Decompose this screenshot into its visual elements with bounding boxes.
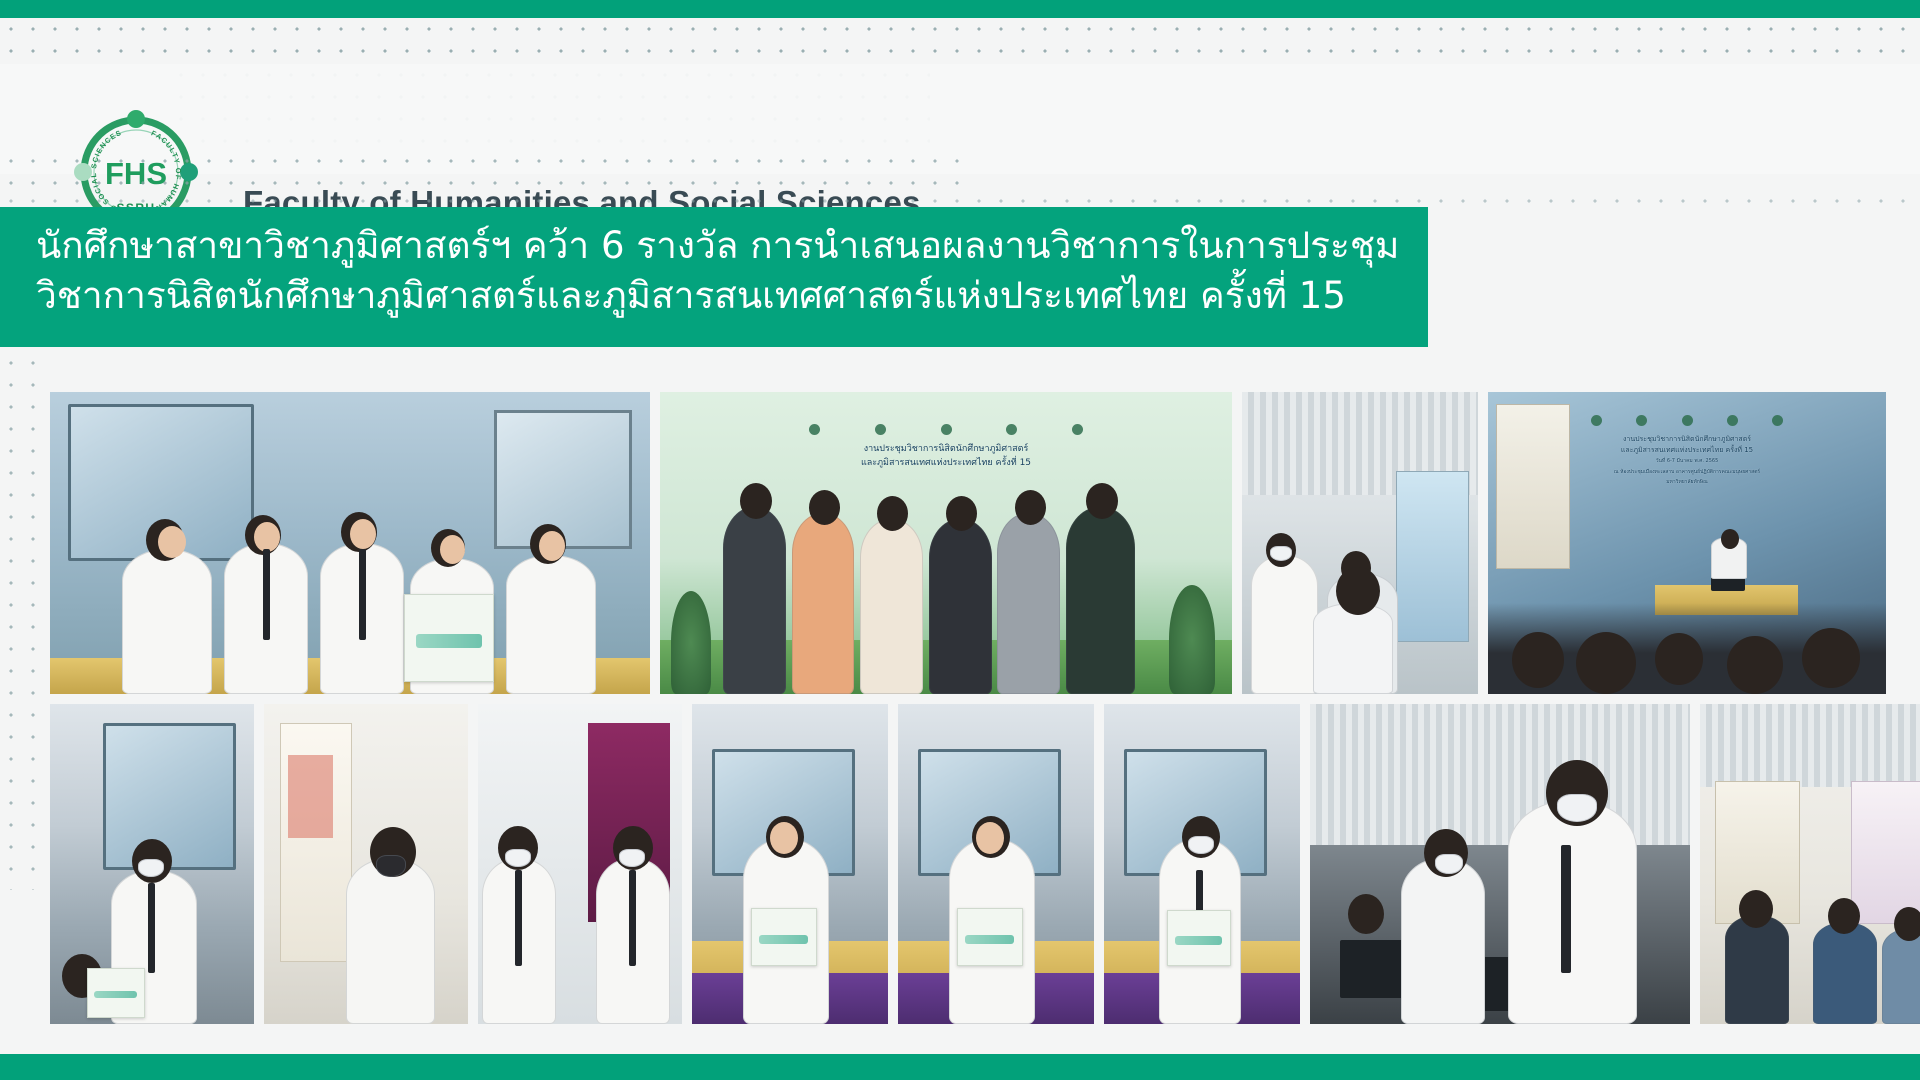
headline-banner: นักศึกษาสาขาวิชาภูมิศาสตร์ฯ คว้า 6 รางวั…: [0, 207, 1428, 347]
svg-text:FHS: FHS: [105, 156, 167, 191]
photo-award-winner-female-student-2: [898, 704, 1094, 1024]
dot-texture-top: [0, 18, 1920, 64]
photo-auditorium-opening-ceremony: งานประชุมวิชาการนิสิตนักศึกษาภูมิศาสตร์ …: [1488, 392, 1886, 694]
top-accent-bar: [0, 0, 1920, 18]
photo-award-winner-male-student: [1104, 704, 1300, 1024]
photo-students-in-seminar-room: [50, 704, 254, 1024]
dot-texture-left: [0, 330, 46, 890]
auditorium-banner-date: วันที่ 6-7 มีนาคม พ.ศ. 2565: [1656, 458, 1719, 464]
photo-award-winner-female-student-1: [692, 704, 888, 1024]
auditorium-banner-venue-1: ณ ห้องประชุมเมืองทะเลสาบ อาคารศูนย์ปฏิบั…: [1614, 469, 1760, 475]
photo-group-photo-delegation-on-green-stage: งานประชุมวิชาการนิสิตนักศึกษาภูมิศาสตร์ …: [660, 392, 1232, 694]
photo-poster-hall-wide-view: [1700, 704, 1920, 1024]
auditorium-banner-title-2: และภูมิสารสนเทศแห่งประเทศไทย ครั้งที่ 15: [1621, 446, 1753, 454]
headline-line-1: นักศึกษาสาขาวิชาภูมิศาสตร์ฯ คว้า 6 รางวั…: [36, 221, 1388, 271]
photo-poster-presentation-thumbs-up: [264, 704, 468, 1024]
auditorium-banner-title-1: งานประชุมวิชาการนิสิตนักศึกษาภูมิศาสตร์: [1623, 435, 1751, 443]
auditorium-banner-venue-2: มหาวิทยาลัยทักษิณ: [1666, 479, 1708, 485]
headline-line-2: วิชาการนิสิตนักศึกษาภูมิศาสตร์และภูมิสาร…: [36, 271, 1388, 321]
photo-students-at-computer-lab: [1310, 704, 1690, 1024]
photo-group-photo-five-students-with-award: [50, 392, 650, 694]
collage-row-1: งานประชุมวิชาการนิสิตนักศึกษาภูมิศาสตร์ …: [50, 392, 1886, 694]
bottom-accent-bar: [0, 1054, 1920, 1080]
stage-banner-title-1: งานประชุมวิชาการนิสิตนักศึกษาภูมิศาสตร์: [864, 444, 1029, 454]
photo-two-students-beside-poster: [478, 704, 682, 1024]
stage-banner-title-2: และภูมิสารสนเทศแห่งประเทศไทย ครั้งที่ 15: [861, 458, 1031, 468]
photo-collage: งานประชุมวิชาการนิสิตนักศึกษาภูมิศาสตร์ …: [50, 392, 1886, 1024]
collage-row-2: [50, 704, 1886, 1024]
photo-corridor-poster-viewing: [1242, 392, 1478, 694]
page-header: FACULTY OF HUMANITIES AND SOCIAL SCIENCE…: [0, 64, 1920, 174]
